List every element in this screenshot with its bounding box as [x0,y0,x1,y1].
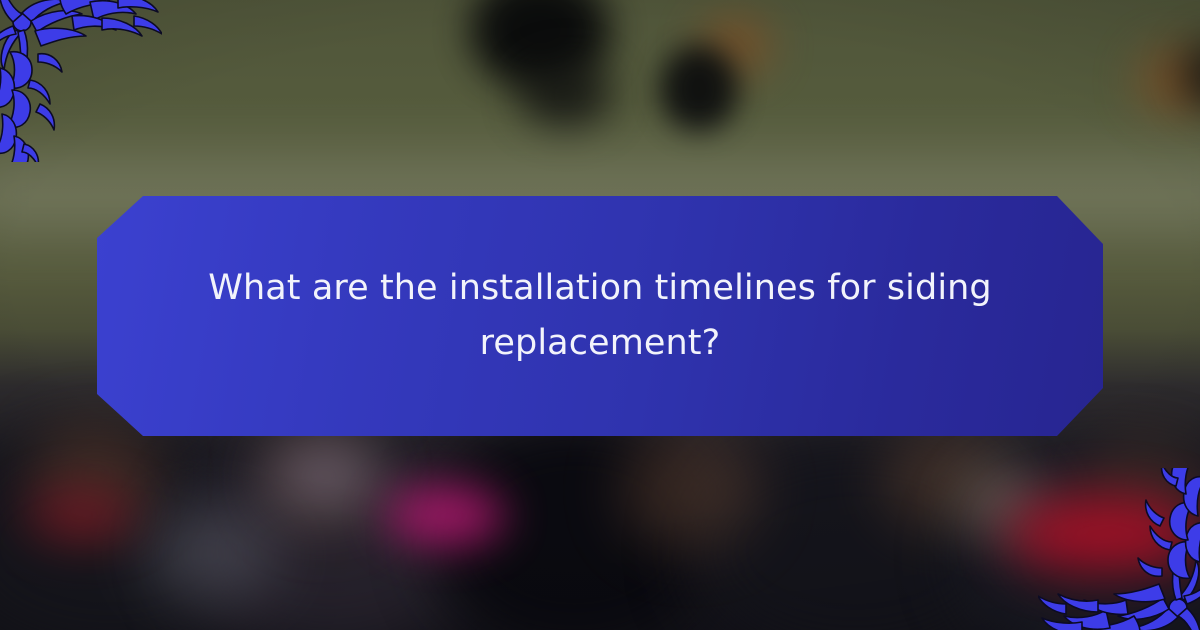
page-title: What are the installation timelines for … [200,261,1000,372]
headline-banner: What are the installation timelines for … [97,196,1103,436]
social-card: What are the installation timelines for … [0,0,1200,630]
